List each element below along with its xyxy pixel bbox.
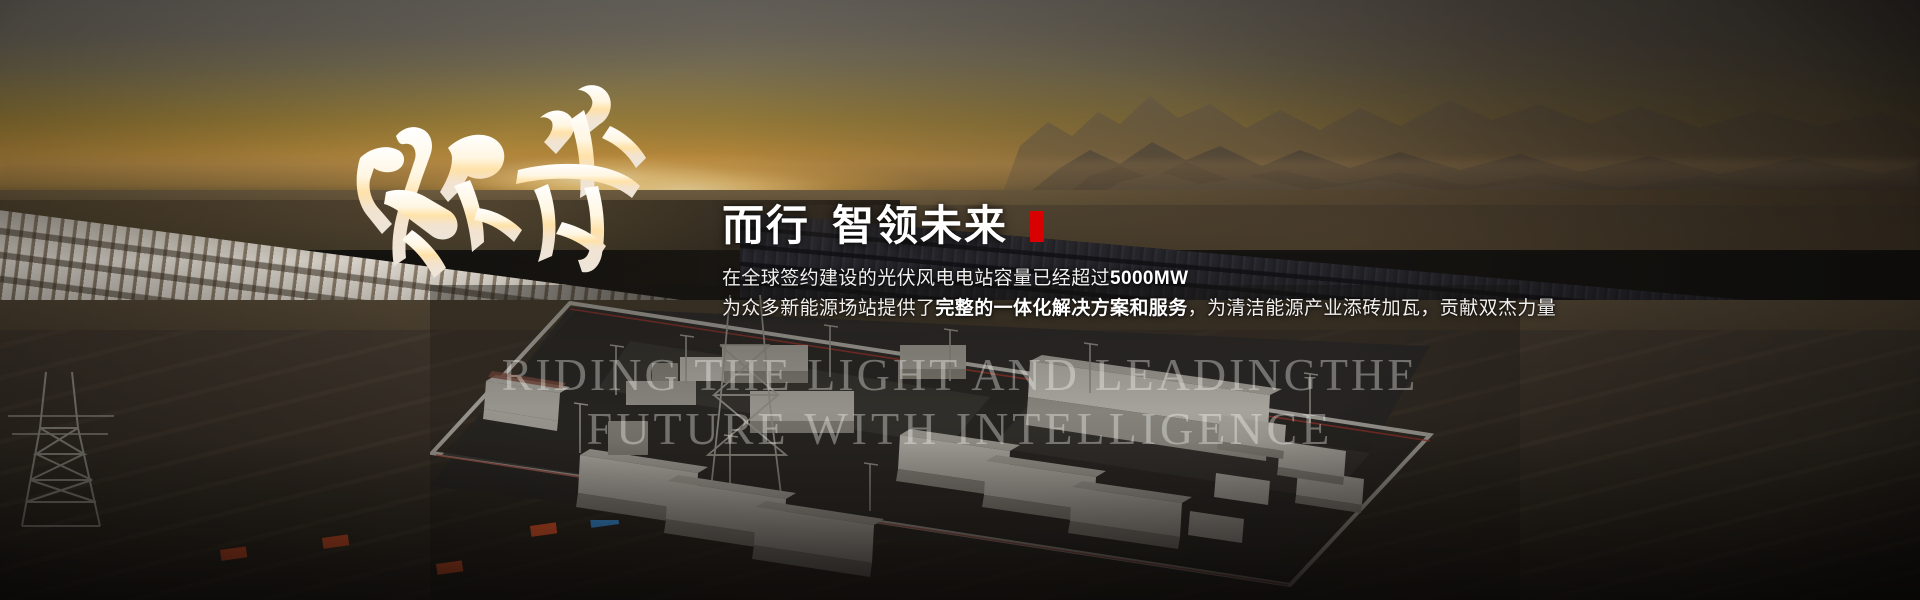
subtitle-line-2-suffix: ，为清洁能源产业添砖加瓦，贡献双杰力量 xyxy=(1188,298,1557,319)
subtitle-line-2: 为众多新能源场站提供了完整的一体化解决方案和服务，为清洁能源产业添砖加瓦，贡献双… xyxy=(722,294,1822,324)
headline-part-a: 而行 xyxy=(722,204,810,248)
headline-part-b: 智领未来 xyxy=(832,204,1008,248)
bottom-gradient xyxy=(0,440,1920,600)
subtitle-line-1-prefix: 在全球签约建设的光伏风电电站容量已经超过 xyxy=(722,268,1110,289)
subtitle-solution-highlight: 完整的一体化解决方案和服务 xyxy=(935,298,1187,319)
red-block-marker xyxy=(1030,211,1044,242)
hero-copy: 而行 智领未来 在全球签约建设的光伏风电电站容量已经超过5000MW 为众多新能… xyxy=(722,200,1822,324)
subtitle-line-2-prefix: 为众多新能源场站提供了 xyxy=(722,298,935,319)
subtitle-capacity-value: 5000MW xyxy=(1110,268,1188,289)
subtitle-line-1: 在全球签约建设的光伏风电电站容量已经超过5000MW xyxy=(722,264,1822,294)
hero-banner: 而行 智领未来 在全球签约建设的光伏风电电站容量已经超过5000MW 为众多新能… xyxy=(0,0,1920,600)
page-title: 而行 智领未来 xyxy=(722,200,1822,252)
